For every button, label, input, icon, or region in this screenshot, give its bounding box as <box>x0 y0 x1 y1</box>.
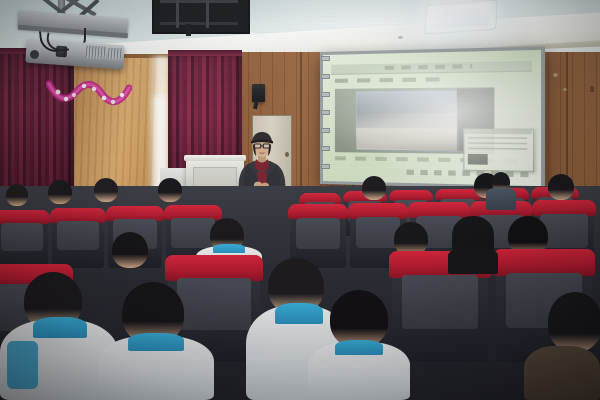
truss-brace <box>206 0 209 28</box>
ceiling-truss <box>152 0 250 34</box>
uniform-shoulder-stripe <box>7 341 38 389</box>
audience-member <box>548 174 574 200</box>
lectern-front-panel <box>193 167 237 187</box>
student-uniform <box>308 342 410 400</box>
screen-clip <box>321 128 330 133</box>
audience-member <box>112 232 148 268</box>
auditorium-photo <box>0 0 600 400</box>
chair-pad <box>1 223 43 251</box>
projection-screen <box>323 50 541 186</box>
person-head <box>548 174 574 200</box>
ceiling-smoke-detector-icon <box>398 36 403 39</box>
truss-rail-bottom <box>160 22 238 25</box>
center-curtain-valance <box>168 50 242 56</box>
person-head <box>6 184 28 206</box>
person-hair <box>524 346 600 400</box>
screen-clip <box>321 92 330 97</box>
standing-attendee-torso <box>486 188 516 210</box>
chair[interactable] <box>0 214 48 268</box>
person-head <box>548 292 600 352</box>
student-uniform <box>98 336 214 400</box>
uniform-collar <box>128 333 184 351</box>
truss-drop-rod <box>186 24 191 36</box>
chair-pad <box>402 275 479 329</box>
screen-clip <box>321 56 330 61</box>
projected-dialog-titlebar <box>463 129 532 135</box>
audience-member <box>452 216 494 272</box>
screen-clip <box>321 146 330 151</box>
person-head <box>362 176 386 200</box>
chair[interactable] <box>52 212 104 268</box>
screen-clip <box>321 74 330 79</box>
wall-blemish <box>563 88 567 91</box>
uniform-collar <box>213 244 245 253</box>
screen-clip <box>321 110 330 115</box>
uniform-collar <box>335 340 384 355</box>
chair-pad <box>57 221 99 250</box>
chair-pad <box>177 278 251 330</box>
flower-garland-icon <box>46 78 132 114</box>
chair-pad <box>171 218 214 248</box>
wall-loudspeaker <box>252 84 265 102</box>
projected-dialog-thumbnail <box>467 154 487 165</box>
screen-clip <box>321 164 330 169</box>
person-head <box>158 178 182 202</box>
projector-adjust-knob[interactable] <box>30 50 39 59</box>
projector-vent-grille <box>86 45 107 59</box>
person-top <box>486 188 516 210</box>
projected-video-road <box>356 128 457 150</box>
audience-member <box>94 178 118 202</box>
wall-blemish <box>553 73 558 77</box>
projected-taskbar <box>406 170 529 178</box>
audience-member <box>362 176 386 200</box>
uniform-collar <box>33 317 87 338</box>
projected-video-sky <box>356 90 457 113</box>
truss-rail-top <box>160 0 238 3</box>
audience-member <box>48 180 72 204</box>
person-head <box>112 232 148 268</box>
audience-member <box>6 184 28 206</box>
ceiling-panel-light <box>427 3 490 29</box>
audience-torso <box>524 346 600 400</box>
truss-brace <box>176 0 179 28</box>
projector-vent-grille <box>108 48 123 61</box>
chair-pad <box>296 218 341 249</box>
audience-member <box>158 178 182 202</box>
person-top <box>448 248 498 274</box>
uniform-collar <box>275 303 323 324</box>
person-head <box>94 178 118 202</box>
audience-member <box>548 292 600 352</box>
projected-dialog-text-rows <box>467 137 526 154</box>
projected-menu-bar <box>335 77 445 83</box>
person-head <box>48 180 72 204</box>
wall-fixture-mark <box>590 86 594 92</box>
